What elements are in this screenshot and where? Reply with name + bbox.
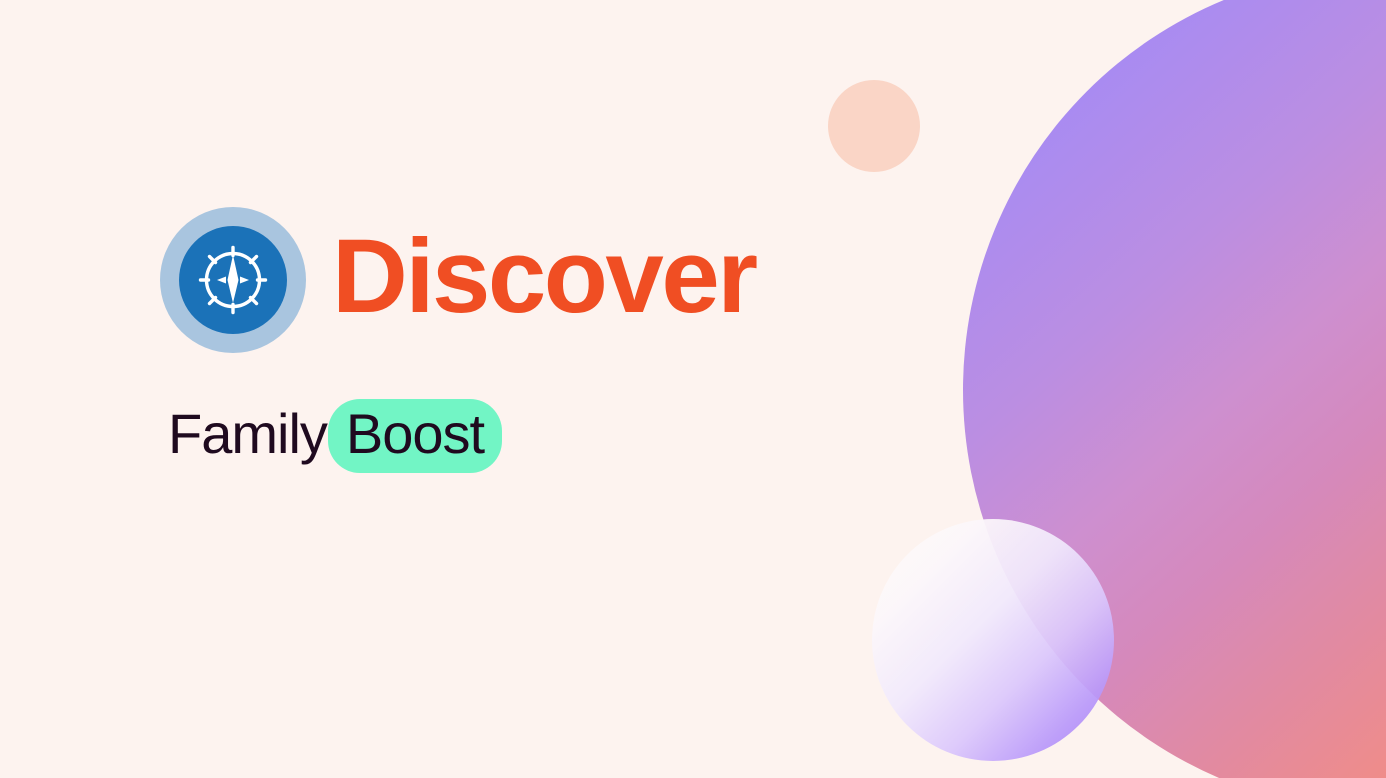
- tagline: FamilyBoost: [168, 399, 502, 473]
- brand-title: Discover: [332, 224, 756, 329]
- tagline-highlight-text: Boost: [328, 399, 502, 473]
- brand-badge-inner: [179, 226, 287, 334]
- compass-icon: [196, 243, 270, 317]
- brand-badge: [160, 207, 306, 353]
- promo-banner: Discover FamilyBoost: [0, 0, 1386, 778]
- brand-lockup: Discover: [160, 207, 756, 353]
- tagline-plain-text: Family: [168, 402, 327, 465]
- banner-content: Discover FamilyBoost: [0, 0, 1386, 778]
